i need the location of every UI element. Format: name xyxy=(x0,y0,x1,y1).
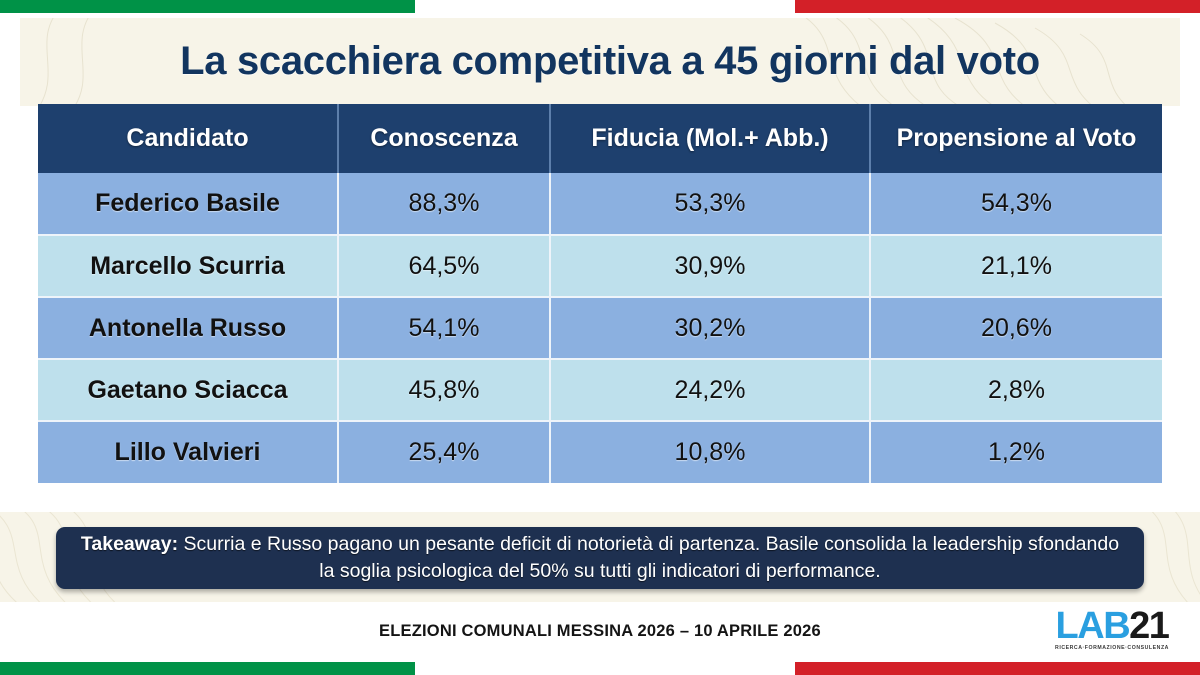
flag-bar-green-bottom xyxy=(0,662,415,675)
cell-candidato: Gaetano Sciacca xyxy=(38,359,338,421)
cell-candidato: Federico Basile xyxy=(38,173,338,235)
cell-propensione: 21,1% xyxy=(870,235,1162,297)
cell-fiducia: 10,8% xyxy=(550,421,870,483)
table-row: Federico Basile 88,3% 53,3% 54,3% xyxy=(38,173,1162,235)
cell-conoscenza: 54,1% xyxy=(338,297,550,359)
cell-candidato: Lillo Valvieri xyxy=(38,421,338,483)
cell-propensione: 2,8% xyxy=(870,359,1162,421)
takeaway-text: Takeaway: Scurria e Russo pagano un pesa… xyxy=(72,531,1128,585)
flag-bar-green-top xyxy=(0,0,415,13)
cell-fiducia: 53,3% xyxy=(550,173,870,235)
footer-note: ELEZIONI COMUNALI MESSINA 2026 – 10 APRI… xyxy=(0,622,1200,641)
page-title: La scacchiera competitiva a 45 giorni da… xyxy=(60,26,1160,96)
logo-21-text: 21 xyxy=(1129,605,1168,647)
logo-tagline: RICERCA·FORMAZIONE·CONSULENZA xyxy=(1036,645,1188,651)
column-header-candidato: Candidato xyxy=(38,104,338,173)
cell-conoscenza: 25,4% xyxy=(338,421,550,483)
cell-propensione: 20,6% xyxy=(870,297,1162,359)
flag-bar-red-top xyxy=(795,0,1200,13)
cell-conoscenza: 64,5% xyxy=(338,235,550,297)
cell-fiducia: 30,2% xyxy=(550,297,870,359)
table-row: Lillo Valvieri 25,4% 10,8% 1,2% xyxy=(38,421,1162,483)
table-row: Gaetano Sciacca 45,8% 24,2% 2,8% xyxy=(38,359,1162,421)
cell-fiducia: 24,2% xyxy=(550,359,870,421)
cell-conoscenza: 45,8% xyxy=(338,359,550,421)
table-header-row: Candidato Conoscenza Fiducia (Mol.+ Abb.… xyxy=(38,104,1162,173)
flag-bar-red-bottom xyxy=(795,662,1200,675)
cell-candidato: Antonella Russo xyxy=(38,297,338,359)
takeaway-box: Takeaway: Scurria e Russo pagano un pesa… xyxy=(56,527,1144,589)
takeaway-label: Takeaway: xyxy=(81,533,178,555)
column-header-propensione: Propensione al Voto xyxy=(870,104,1162,173)
cell-propensione: 54,3% xyxy=(870,173,1162,235)
column-header-conoscenza: Conoscenza xyxy=(338,104,550,173)
logo-lab-text: LAB xyxy=(1056,605,1130,647)
logo-wordmark: LAB21 xyxy=(1036,608,1188,644)
cell-propensione: 1,2% xyxy=(870,421,1162,483)
takeaway-body: Scurria e Russo pagano un pesante defici… xyxy=(178,533,1119,582)
column-header-fiducia: Fiducia (Mol.+ Abb.) xyxy=(550,104,870,173)
table-row: Marcello Scurria 64,5% 30,9% 21,1% xyxy=(38,235,1162,297)
table-row: Antonella Russo 54,1% 30,2% 20,6% xyxy=(38,297,1162,359)
cell-conoscenza: 88,3% xyxy=(338,173,550,235)
cell-fiducia: 30,9% xyxy=(550,235,870,297)
lab21-logo[interactable]: LAB21 RICERCA·FORMAZIONE·CONSULENZA xyxy=(1036,608,1188,658)
slide-canvas: La scacchiera competitiva a 45 giorni da… xyxy=(0,0,1200,675)
results-table: Candidato Conoscenza Fiducia (Mol.+ Abb.… xyxy=(38,104,1162,483)
cell-candidato: Marcello Scurria xyxy=(38,235,338,297)
